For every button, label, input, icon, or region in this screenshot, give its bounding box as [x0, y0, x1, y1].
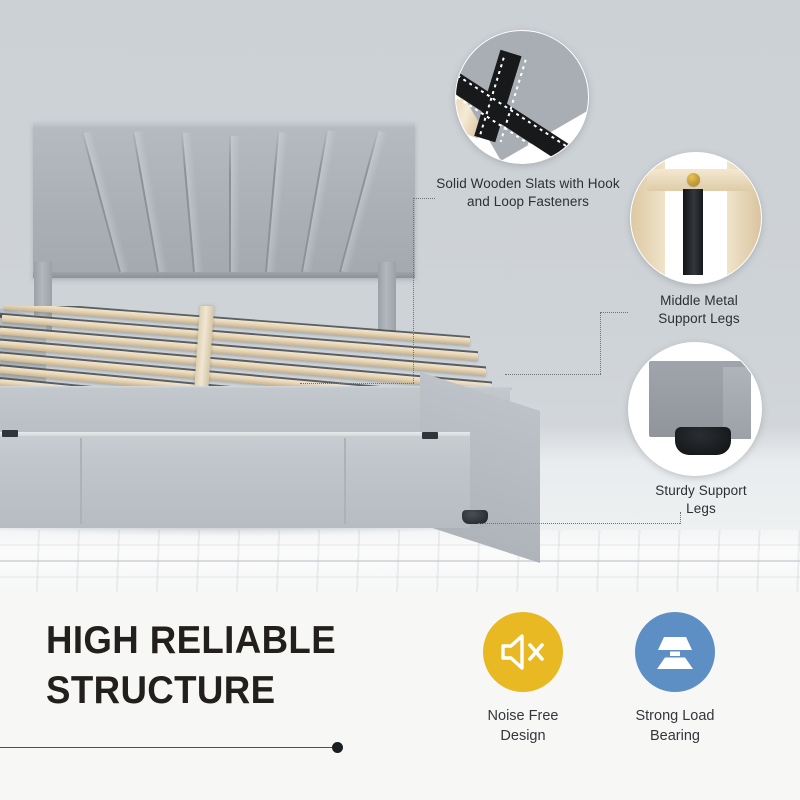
- leader-line-slats-h2: [300, 383, 414, 384]
- detail-circle-slats: [455, 30, 589, 164]
- mute-speaker-icon: [500, 632, 546, 672]
- stacked-load-icon: [651, 631, 699, 673]
- feature-strong-load: Strong Load Bearing: [600, 612, 750, 746]
- detail-circle-middle-legs: [630, 152, 762, 284]
- callout-label-slats: Solid Wooden Slats with Hook and Loop Fa…: [413, 175, 643, 211]
- detail-circle-support-legs: [628, 342, 762, 476]
- headline-underline-dot: [332, 742, 343, 753]
- bed-foot-front: [462, 510, 488, 524]
- leader-line-middle-v: [600, 312, 601, 374]
- product-photo-scene: Solid Wooden Slats with Hook and Loop Fa…: [0, 0, 800, 592]
- leader-line-middle-h1: [600, 312, 628, 313]
- storage-drawers[interactable]: [0, 436, 470, 528]
- feature-noise-free-label: Noise Free Design: [448, 706, 598, 746]
- headline-underline: [0, 747, 337, 748]
- leader-line-slats-v: [413, 198, 414, 383]
- brass-screw-icon: [687, 173, 700, 186]
- drawer-seam-right: [344, 438, 346, 524]
- noise-free-badge: [483, 612, 563, 692]
- banner-headline: HIGH RELIABLE STRUCTURE: [46, 616, 366, 716]
- callout-label-support-legs: Sturdy Support Legs: [626, 482, 776, 518]
- headboard: [33, 122, 415, 278]
- feature-noise-free: Noise Free Design: [448, 612, 598, 746]
- drawer-tab-left: [2, 430, 18, 437]
- drawer-seam-left: [80, 438, 82, 524]
- leader-line-middle-h2: [505, 374, 601, 375]
- strong-load-badge: [635, 612, 715, 692]
- callout-label-middle-legs: Middle Metal Support Legs: [626, 292, 772, 328]
- leader-line-legs-h: [478, 523, 680, 524]
- drawer-tab-right: [422, 432, 438, 439]
- feature-strong-load-label: Strong Load Bearing: [600, 706, 750, 746]
- feature-banner: HIGH RELIABLE STRUCTURE Noise Free Desig…: [0, 592, 800, 800]
